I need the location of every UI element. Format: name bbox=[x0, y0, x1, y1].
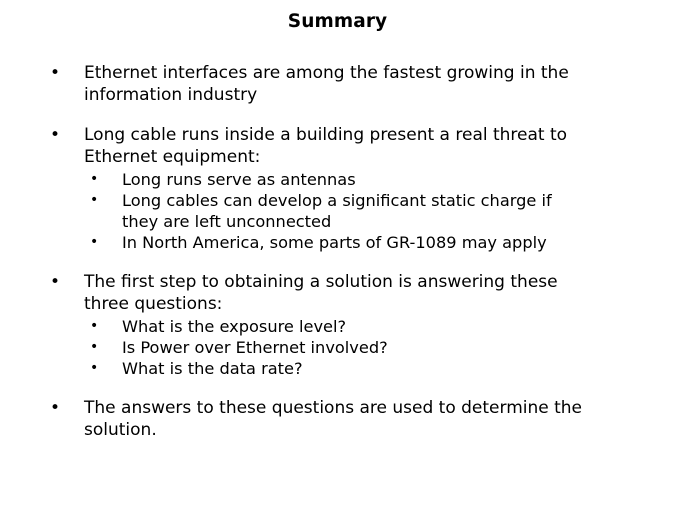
sub-list-item: • What is the exposure level? bbox=[0, 316, 675, 337]
sub-list: • Long runs serve as antennas • Long cab… bbox=[0, 169, 675, 253]
list-item: • The answers to these questions are use… bbox=[0, 397, 675, 441]
bullet-marker-icon: • bbox=[90, 169, 102, 190]
list-item: • Ethernet interfaces are among the fast… bbox=[0, 62, 675, 106]
bullet-marker-icon: • bbox=[50, 62, 62, 84]
sub-list-item-label: Long runs serve as antennas bbox=[122, 169, 615, 190]
bullet-group: • The first step to obtaining a solution… bbox=[0, 271, 675, 379]
sub-list-item-label: Long cables can develop a significant st… bbox=[122, 190, 615, 232]
bullet-marker-icon: • bbox=[90, 358, 102, 379]
bullet-marker-icon: • bbox=[50, 397, 62, 419]
presentation-slide: Summary • Ethernet interfaces are among … bbox=[0, 0, 675, 506]
sub-list-item-label: In North America, some parts of GR-1089 … bbox=[122, 232, 615, 253]
bullet-marker-icon: • bbox=[90, 337, 102, 358]
list-item: • Long cable runs inside a building pres… bbox=[0, 124, 675, 168]
sub-list: • What is the exposure level? • Is Power… bbox=[0, 316, 675, 379]
sub-list-item: • Is Power over Ethernet involved? bbox=[0, 337, 675, 358]
sub-list-item-label: Is Power over Ethernet involved? bbox=[122, 337, 615, 358]
page-title: Summary bbox=[0, 10, 675, 34]
list-item-label: The answers to these questions are used … bbox=[84, 397, 615, 441]
bullet-marker-icon: • bbox=[50, 271, 62, 293]
sub-list-item: • In North America, some parts of GR-108… bbox=[0, 232, 675, 253]
bullet-group: • The answers to these questions are use… bbox=[0, 397, 675, 441]
bullet-marker-icon: • bbox=[90, 190, 102, 211]
sub-list-item: • Long runs serve as antennas bbox=[0, 169, 675, 190]
sub-list-item: • Long cables can develop a significant … bbox=[0, 190, 675, 232]
list-item-label: Long cable runs inside a building presen… bbox=[84, 124, 615, 168]
sub-list-item-label: What is the exposure level? bbox=[122, 316, 615, 337]
sub-list-item-label: What is the data rate? bbox=[122, 358, 615, 379]
list-item-label: The first step to obtaining a solution i… bbox=[84, 271, 615, 315]
list-item: • The first step to obtaining a solution… bbox=[0, 271, 675, 315]
bullet-group: • Ethernet interfaces are among the fast… bbox=[0, 62, 675, 106]
bullet-marker-icon: • bbox=[90, 316, 102, 337]
bullet-group: • Long cable runs inside a building pres… bbox=[0, 124, 675, 253]
slide-body: • Ethernet interfaces are among the fast… bbox=[0, 62, 675, 441]
list-item-label: Ethernet interfaces are among the fastes… bbox=[84, 62, 615, 106]
sub-list-item: • What is the data rate? bbox=[0, 358, 675, 379]
bullet-marker-icon: • bbox=[50, 124, 62, 146]
bullet-marker-icon: • bbox=[90, 232, 102, 253]
